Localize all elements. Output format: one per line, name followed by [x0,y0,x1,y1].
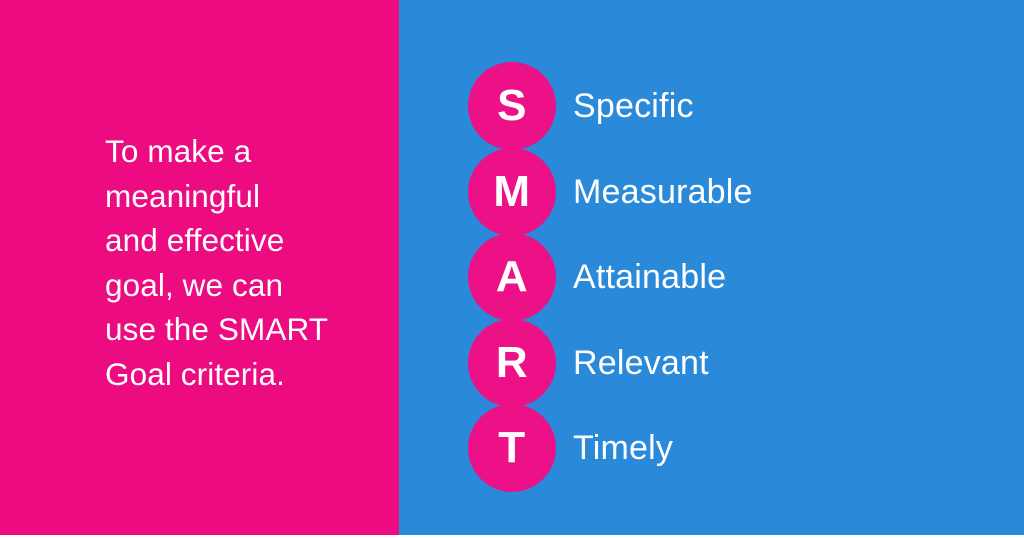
letter-badge-t: T [468,404,556,492]
smart-label-attainable: Attainable [573,233,726,321]
smart-goal-infographic: To make a meaningful and effective goal,… [0,0,1024,538]
smart-item-measurable: M Measurable [468,148,1008,234]
smart-item-relevant: R Relevant [468,319,1008,405]
letter-badge-m: M [468,148,556,236]
right-blue-panel: S Specific M Measurable A Attainable R R… [399,0,1024,535]
smart-label-specific: Specific [573,62,694,150]
letter-badge-s: S [468,62,556,150]
smart-item-timely: T Timely [468,404,1008,490]
smart-criteria-list: S Specific M Measurable A Attainable R R… [468,62,1008,490]
smart-label-measurable: Measurable [573,148,753,236]
smart-item-specific: S Specific [468,62,1008,148]
smart-label-timely: Timely [573,404,673,492]
letter-badge-r: R [468,319,556,407]
smart-item-attainable: A Attainable [468,233,1008,319]
letter-badge-a: A [468,233,556,321]
intro-paragraph: To make a meaningful and effective goal,… [105,129,355,396]
left-pink-panel: To make a meaningful and effective goal,… [0,0,399,535]
smart-label-relevant: Relevant [573,319,709,407]
